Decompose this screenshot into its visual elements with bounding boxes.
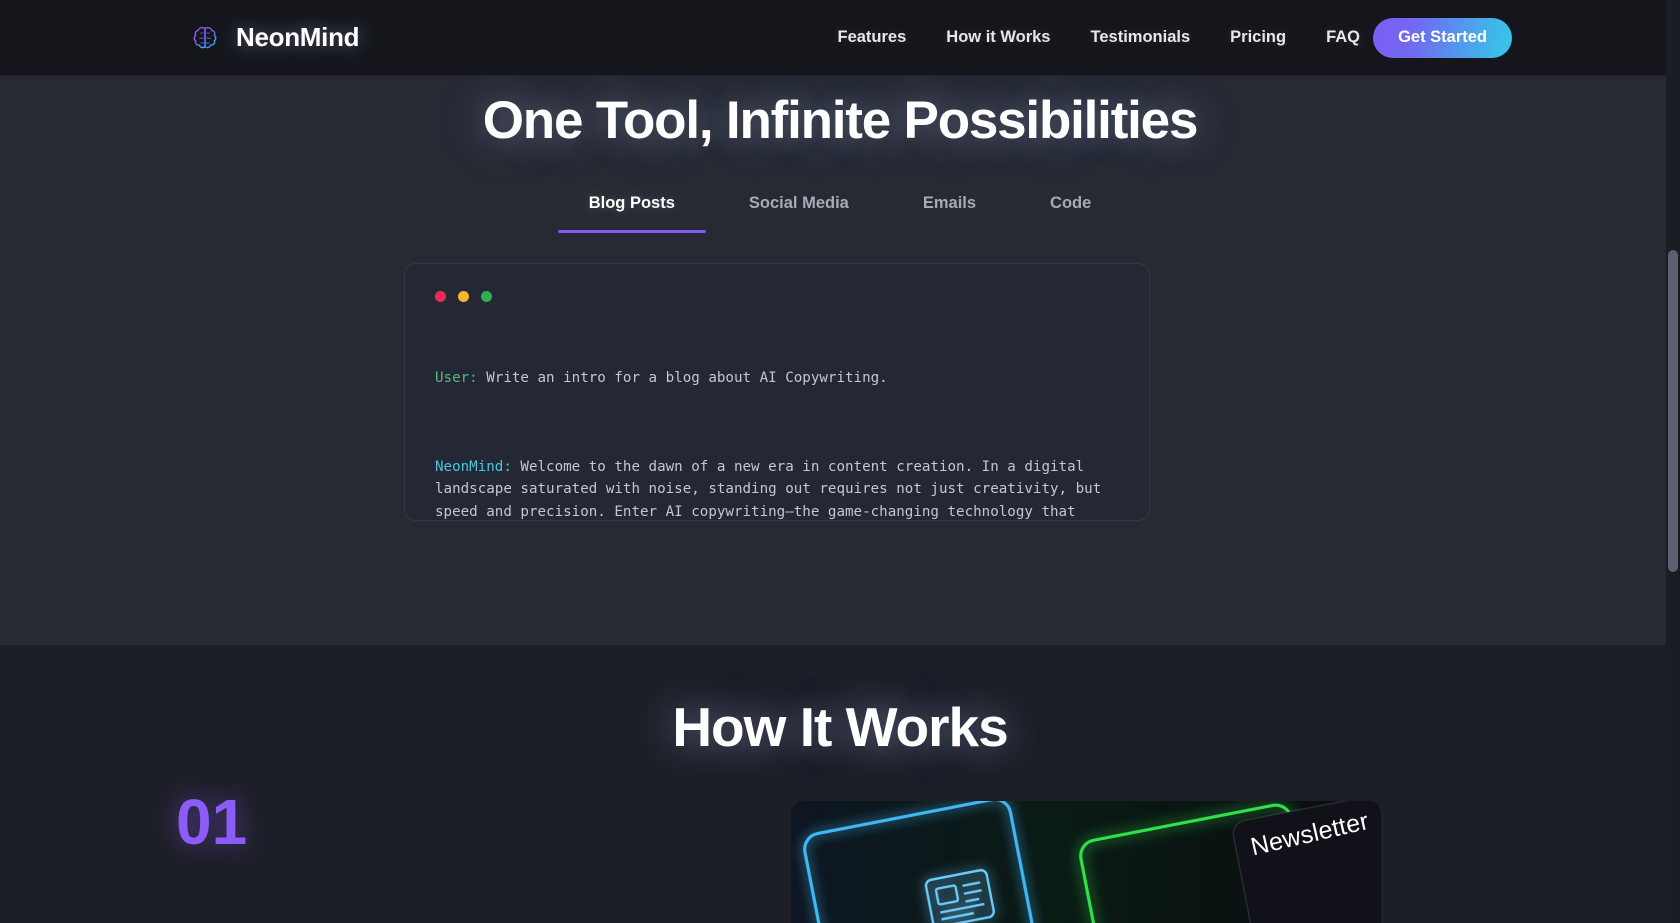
tab-blog-posts[interactable]: Blog Posts xyxy=(552,194,712,233)
maximize-dot[interactable] xyxy=(481,291,492,302)
showcase-tabs: Blog Posts Social Media Emails Code xyxy=(0,194,1680,233)
bot-message-text: Welcome to the dawn of a new era in cont… xyxy=(435,459,1110,521)
nav-links: Features How it Works Testimonials Prici… xyxy=(818,28,1381,47)
get-started-button[interactable]: Get Started xyxy=(1373,18,1512,58)
demo-terminal-card: User: Write an intro for a blog about AI… xyxy=(404,263,1150,521)
landing-page: NeonMind Features How it Works Testimoni… xyxy=(0,0,1680,923)
nav-link-pricing[interactable]: Pricing xyxy=(1210,28,1306,47)
step-number: 01 xyxy=(176,785,247,859)
transcript-bot-line: NeonMind: Welcome to the dawn of a new e… xyxy=(435,456,1125,521)
showcase-section: One Tool, Infinite Possibilities Blog Po… xyxy=(0,76,1680,645)
nav-link-features[interactable]: Features xyxy=(818,28,927,47)
window-controls xyxy=(435,291,492,302)
how-it-works-title: How It Works xyxy=(0,695,1680,759)
brain-icon xyxy=(190,23,220,53)
nav-link-how-it-works[interactable]: How it Works xyxy=(926,28,1070,47)
showcase-title: One Tool, Infinite Possibilities xyxy=(0,90,1680,151)
tab-social-media[interactable]: Social Media xyxy=(712,194,886,233)
brand-logo-link[interactable]: NeonMind xyxy=(190,22,359,53)
demo-transcript: User: Write an intro for a blog about AI… xyxy=(435,322,1125,521)
nav-link-faq[interactable]: FAQ xyxy=(1306,28,1380,47)
minimize-dot[interactable] xyxy=(458,291,469,302)
close-dot[interactable] xyxy=(435,291,446,302)
transcript-user-line: User: Write an intro for a blog about AI… xyxy=(435,367,1125,389)
how-it-works-section: How It Works 01 xyxy=(0,645,1680,923)
newsletter-card-icon: Newsletter xyxy=(790,800,1382,923)
user-speaker-label: User: xyxy=(435,370,478,386)
bot-speaker-label: NeonMind: xyxy=(435,459,512,475)
top-navigation-bar: NeonMind Features How it Works Testimoni… xyxy=(0,0,1680,76)
tab-code[interactable]: Code xyxy=(1013,194,1128,233)
user-message-text: Write an intro for a blog about AI Copyw… xyxy=(478,370,888,386)
brand-name: NeonMind xyxy=(236,22,359,53)
scrollbar-thumb[interactable] xyxy=(1668,250,1678,572)
tab-emails[interactable]: Emails xyxy=(886,194,1013,233)
nav-link-testimonials[interactable]: Testimonials xyxy=(1071,28,1211,47)
